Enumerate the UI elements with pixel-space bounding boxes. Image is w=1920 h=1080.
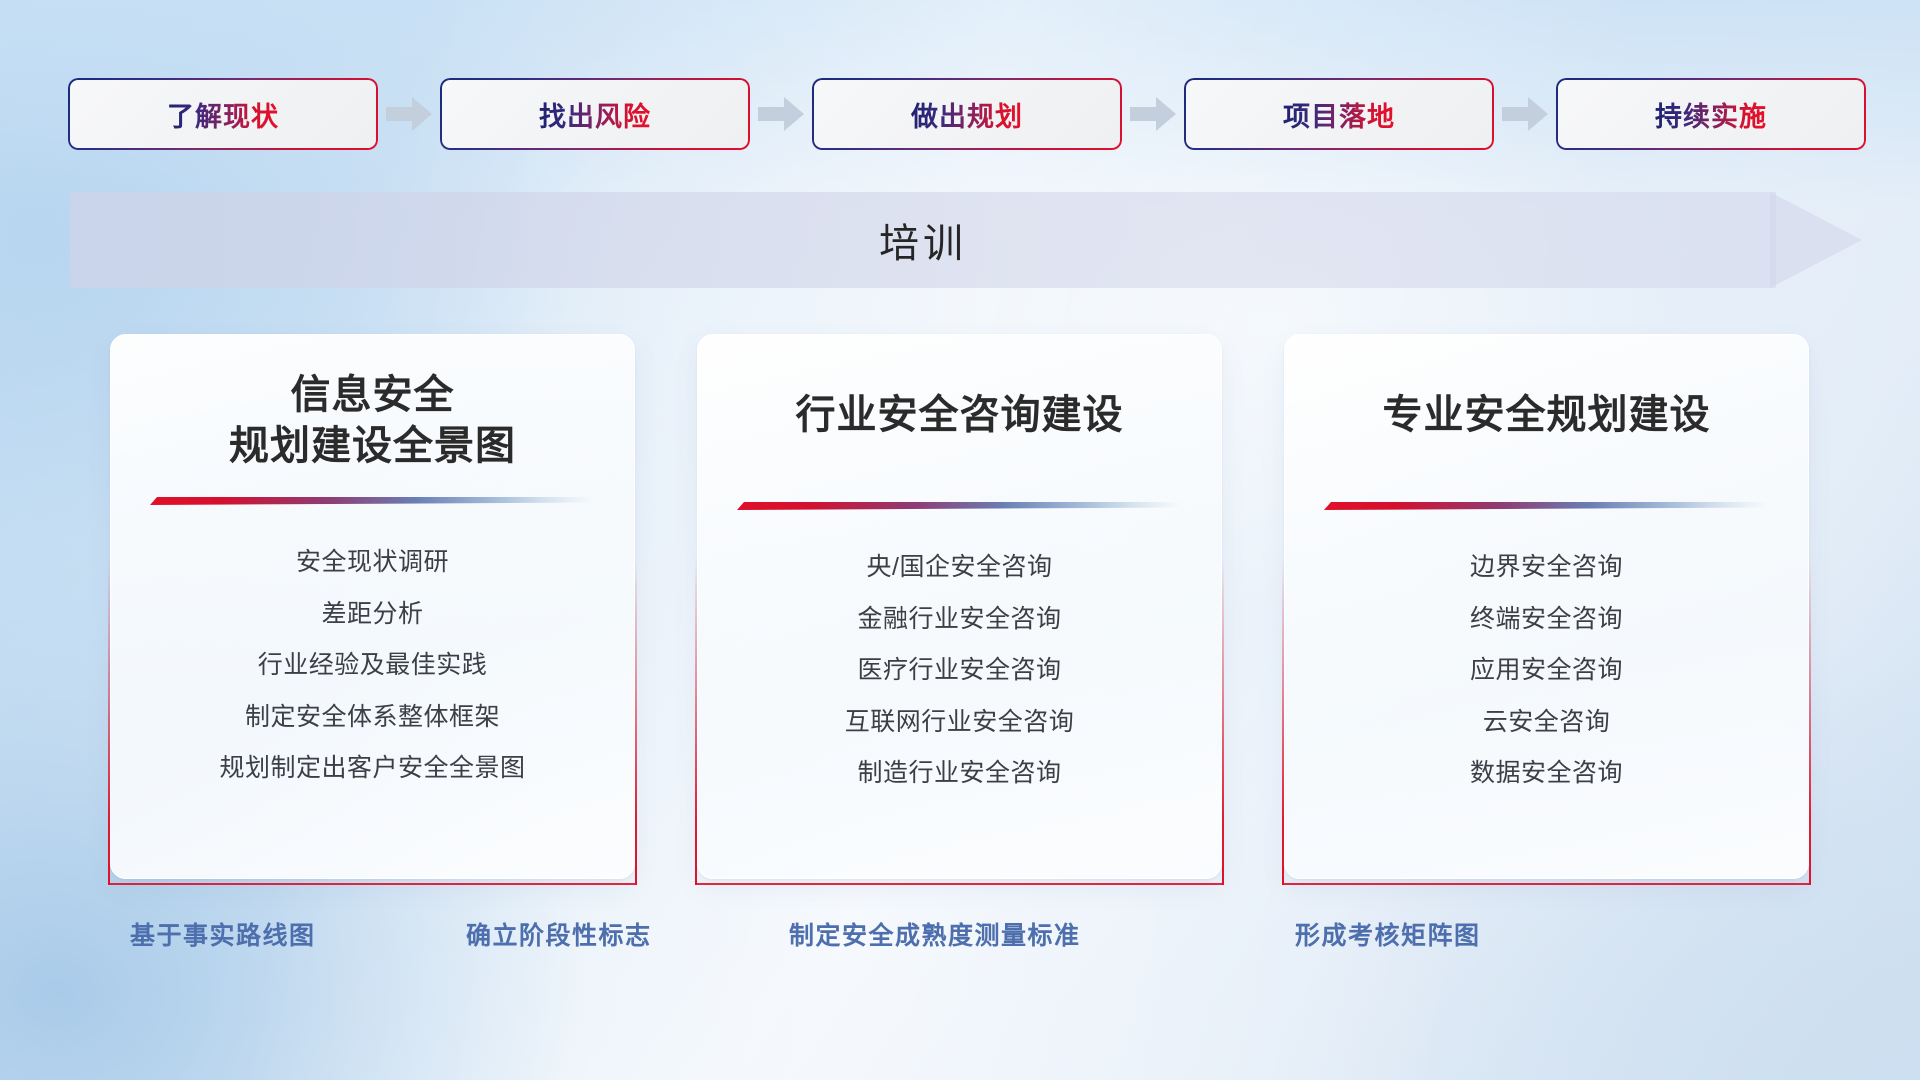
process-step-label: 持续实施: [1655, 95, 1767, 134]
process-step-label: 做出规划: [911, 95, 1023, 134]
card-list-item: 数据安全咨询: [1470, 753, 1623, 794]
training-banner: 培训: [70, 192, 1862, 288]
card-list-item: 制定安全体系整体框架: [245, 697, 500, 738]
card-list-item: 终端安全咨询: [1470, 599, 1623, 640]
outcome-label-2: 确立阶段性标志: [466, 916, 652, 952]
process-step-label: 项目落地: [1283, 95, 1395, 134]
card-title: 专业安全规划建设: [1383, 390, 1711, 441]
card-title: 信息安全 规划建设全景图: [229, 370, 516, 472]
card-inner: 信息安全 规划建设全景图安全现状调研差距分析行业经验及最佳实践制定安全体系整体框…: [110, 334, 635, 879]
training-banner-arrowhead: [1770, 174, 1862, 306]
card-gradient-divider: [1324, 501, 1769, 511]
card-list-item: 安全现状调研: [296, 542, 449, 583]
card-right-accent-line: [635, 342, 637, 885]
bottom-label-row: 基于事实路线图确立阶段性标志制定安全成熟度测量标准形成考核矩阵图: [0, 916, 1920, 960]
card-list-item: 边界安全咨询: [1470, 547, 1623, 588]
card-right-accent-line: [1222, 342, 1224, 885]
card-gradient-divider: [150, 496, 595, 506]
service-card-1[interactable]: 信息安全 规划建设全景图安全现状调研差距分析行业经验及最佳实践制定安全体系整体框…: [110, 334, 635, 879]
outcome-label-1: 基于事实路线图: [130, 916, 316, 952]
process-step-strip: 了解现状找出风险做出规划项目落地持续实施: [68, 78, 1858, 150]
process-step-4[interactable]: 项目落地: [1184, 78, 1494, 150]
card-item-list: 边界安全咨询终端安全咨询应用安全咨询云安全咨询数据安全咨询: [1470, 547, 1623, 794]
card-list-item: 规划制定出客户安全全景图: [219, 748, 525, 789]
cards-row: 信息安全 规划建设全景图安全现状调研差距分析行业经验及最佳实践制定安全体系整体框…: [110, 334, 1810, 879]
card-inner: 专业安全规划建设边界安全咨询终端安全咨询应用安全咨询云安全咨询数据安全咨询: [1284, 334, 1809, 879]
arrow-right-icon: [1494, 78, 1556, 150]
card-item-list: 央/国企安全咨询金融行业安全咨询医疗行业安全咨询互联网行业安全咨询制造行业安全咨…: [845, 547, 1075, 794]
service-card-3[interactable]: 专业安全规划建设边界安全咨询终端安全咨询应用安全咨询云安全咨询数据安全咨询: [1284, 334, 1809, 879]
process-step-2[interactable]: 找出风险: [440, 78, 750, 150]
card-list-item: 央/国企安全咨询: [867, 547, 1053, 588]
process-step-3[interactable]: 做出规划: [812, 78, 1122, 150]
card-inner: 行业安全咨询建设央/国企安全咨询金融行业安全咨询医疗行业安全咨询互联网行业安全咨…: [697, 334, 1222, 879]
card-list-item: 金融行业安全咨询: [857, 599, 1061, 640]
card-item-list: 安全现状调研差距分析行业经验及最佳实践制定安全体系整体框架规划制定出客户安全全景…: [219, 542, 525, 789]
card-list-item: 互联网行业安全咨询: [845, 702, 1075, 743]
card-title: 行业安全咨询建设: [796, 390, 1124, 441]
arrow-right-icon: [750, 78, 812, 150]
card-list-item: 医疗行业安全咨询: [857, 650, 1061, 691]
arrow-right-icon: [1122, 78, 1184, 150]
outcome-label-3: 制定安全成熟度测量标准: [789, 916, 1081, 952]
card-list-item: 行业经验及最佳实践: [258, 645, 488, 686]
process-step-label: 了解现状: [167, 95, 279, 134]
process-step-label: 找出风险: [539, 95, 651, 134]
outcome-label-4: 形成考核矩阵图: [1295, 916, 1481, 952]
card-gradient-divider: [737, 501, 1182, 511]
process-step-1[interactable]: 了解现状: [68, 78, 378, 150]
card-list-item: 应用安全咨询: [1470, 650, 1623, 691]
arrow-right-icon: [378, 78, 440, 150]
card-list-item: 差距分析: [321, 594, 423, 635]
process-step-5[interactable]: 持续实施: [1556, 78, 1866, 150]
card-list-item: 云安全咨询: [1483, 702, 1611, 743]
card-list-item: 制造行业安全咨询: [857, 753, 1061, 794]
service-card-2[interactable]: 行业安全咨询建设央/国企安全咨询金融行业安全咨询医疗行业安全咨询互联网行业安全咨…: [697, 334, 1222, 879]
training-banner-label: 培训: [70, 192, 1776, 288]
